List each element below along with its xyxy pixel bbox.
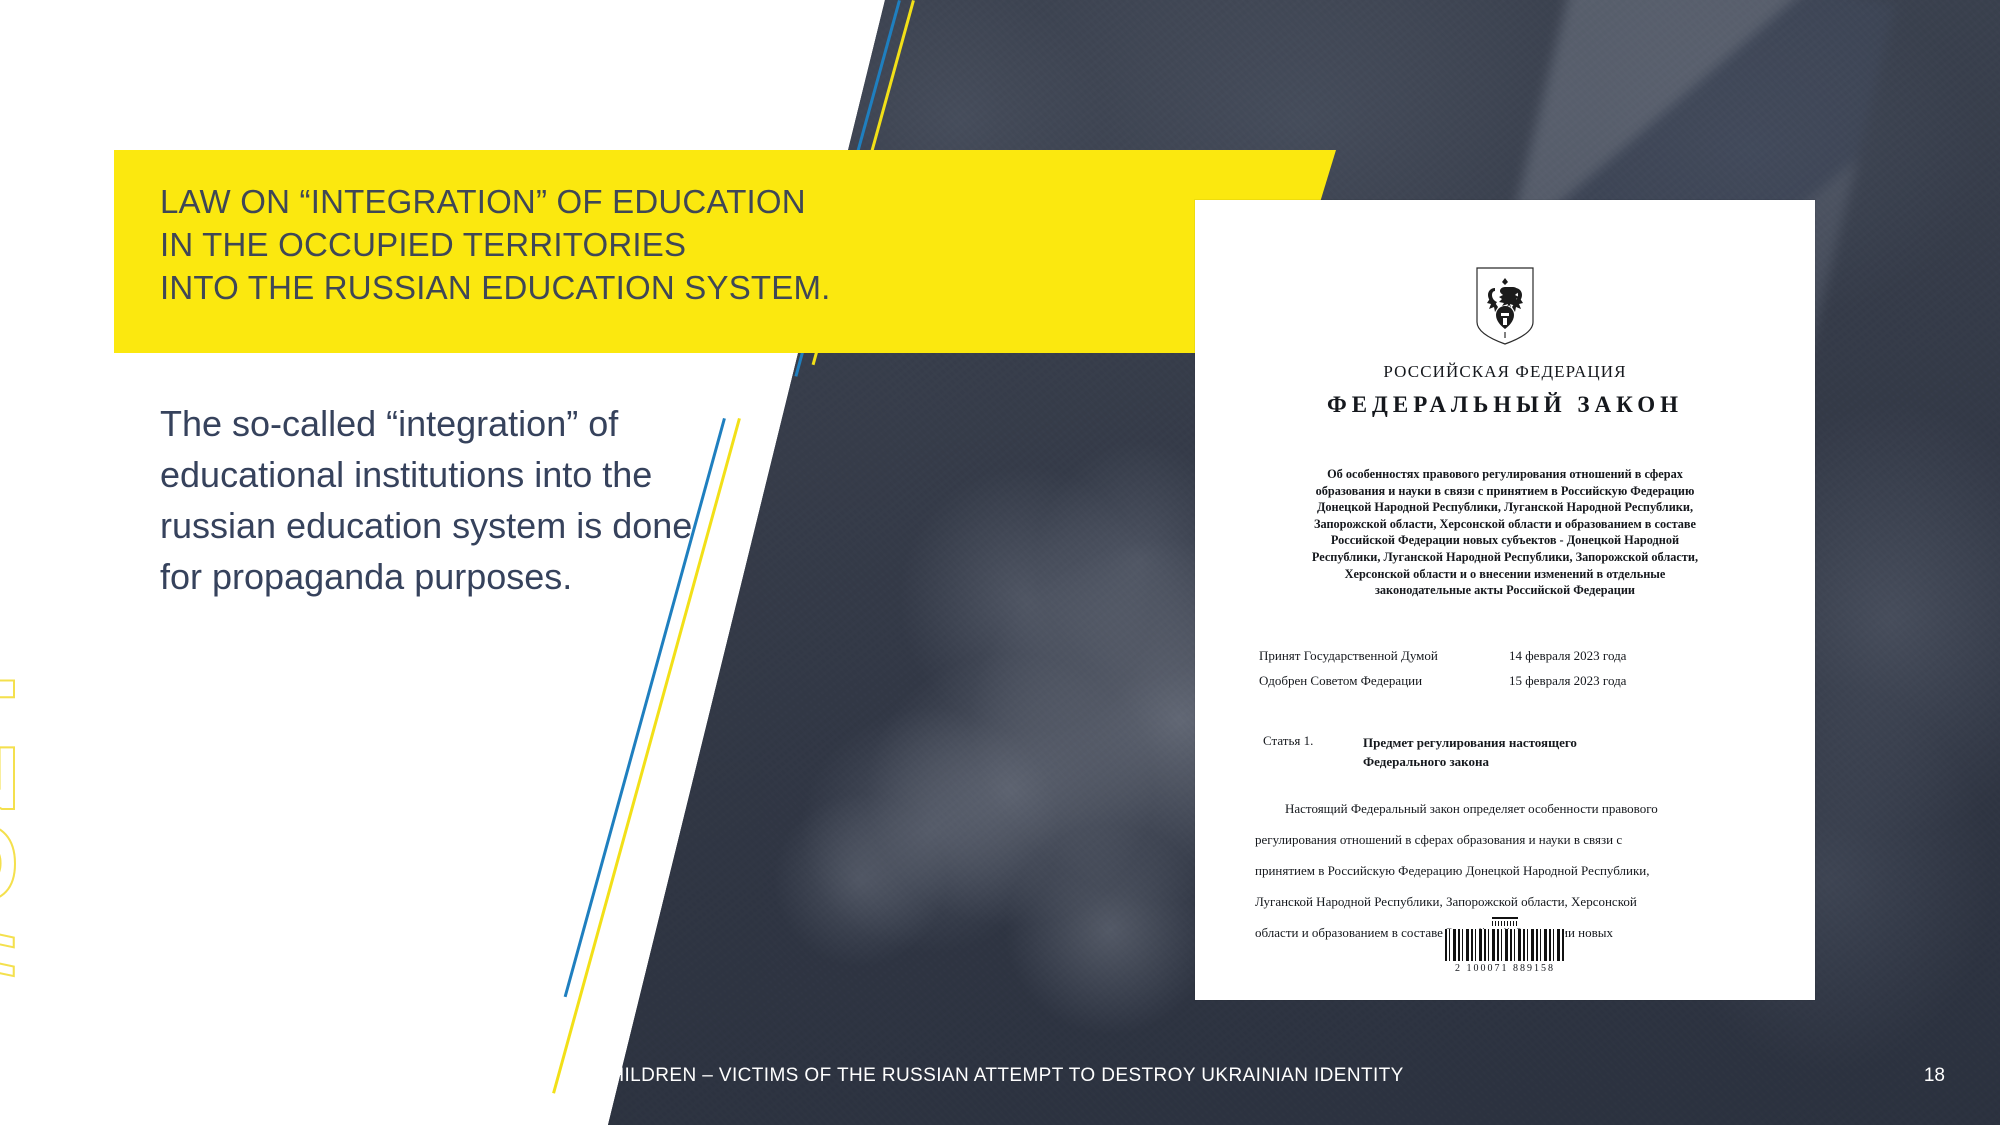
barcode-bars — [1445, 929, 1565, 961]
page-number: 18 — [1924, 1065, 1945, 1087]
body-paragraph: The so-called “integration” of education… — [160, 398, 740, 602]
doc-title-line: Республики, Луганской Народной Республик… — [1245, 549, 1765, 566]
doc-article-title: Предмет регулирования настоящего Федерал… — [1363, 733, 1577, 771]
title-line-3: INTO THE RUSSIAN EDUCATION SYSTEM. — [160, 266, 1000, 309]
doc-title-line: Донецкой Народной Республики, Луганской … — [1245, 499, 1765, 516]
title-line-1: LAW ON “INTEGRATION” OF EDUCATION — [160, 180, 1000, 223]
doc-body-line: регулирования отношений в сферах образов… — [1255, 824, 1763, 855]
doc-title-line: образования и науки в связи с принятием … — [1245, 483, 1765, 500]
barcode-digits: 2 100071 889158 — [1195, 963, 1815, 974]
doc-body-line: Луганской Народной Республики, Запорожск… — [1255, 886, 1763, 917]
federal-law-document: РОССИЙСКАЯ ФЕДЕРАЦИЯ ФЕДЕРАЛЬНЫЙ ЗАКОН О… — [1195, 200, 1815, 1000]
doc-title-line: Херсонской области и о внесении изменени… — [1245, 566, 1765, 583]
russian-coat-of-arms-icon — [1474, 266, 1536, 346]
title-line-2: IN THE OCCUPIED TERRITORIES — [160, 223, 1000, 266]
doc-title-line: Об особенностях правового регулирования … — [1245, 466, 1765, 483]
doc-body-line: принятием в Российскую Федерацию Донецко… — [1255, 855, 1763, 886]
doc-article-title-line-1: Предмет регулирования настоящего — [1363, 733, 1577, 752]
doc-title-line: Российской Федерации новых субъектов - Д… — [1245, 532, 1765, 549]
doc-country-line: РОССИЙСКАЯ ФЕДЕРАЦИЯ — [1239, 362, 1771, 382]
doc-adoption-row: Одобрен Советом Федерации 15 февраля 202… — [1259, 668, 1771, 693]
doc-adoption-row: Принят Государственной Думой 14 февраля … — [1259, 643, 1771, 668]
page-title: LAW ON “INTEGRATION” OF EDUCATION IN THE… — [160, 180, 1000, 309]
doc-adoption-date: 15 февраля 2023 года — [1509, 668, 1626, 693]
doc-article-number: Статья 1. — [1263, 733, 1363, 771]
side-hashtag: #U24 — [0, 665, 35, 983]
doc-article-title-line-2: Федерального закона — [1363, 752, 1577, 771]
doc-law-type: ФЕДЕРАЛЬНЫЙ ЗАКОН — [1239, 392, 1771, 418]
doc-title-line: Запорожской области, Херсонской области … — [1245, 516, 1765, 533]
doc-barcode: 2 100071 889158 — [1195, 917, 1815, 974]
doc-body-line: Настоящий Федеральный закон определяет о… — [1255, 793, 1763, 824]
doc-article-heading: Статья 1. Предмет регулирования настояще… — [1239, 733, 1771, 771]
slide: #U24 LAW ON “INTEGRATION” OF EDUCATION I… — [0, 0, 2000, 1125]
doc-adoption-label: Одобрен Советом Федерации — [1259, 668, 1509, 693]
doc-adoption-label: Принят Государственной Думой — [1259, 643, 1509, 668]
doc-title-line: законодательные акты Российской Федераци… — [1245, 582, 1765, 599]
doc-adoption-date: 14 февраля 2023 года — [1509, 643, 1626, 668]
footer-text: CHILDREN – VICTIMS OF THE RUSSIAN ATTEMP… — [0, 1065, 2000, 1087]
doc-title-block: Об особенностях правового регулирования … — [1239, 466, 1771, 599]
barcode-mark-icon — [1492, 917, 1518, 926]
doc-adoption-block: Принят Государственной Думой 14 февраля … — [1239, 643, 1771, 693]
